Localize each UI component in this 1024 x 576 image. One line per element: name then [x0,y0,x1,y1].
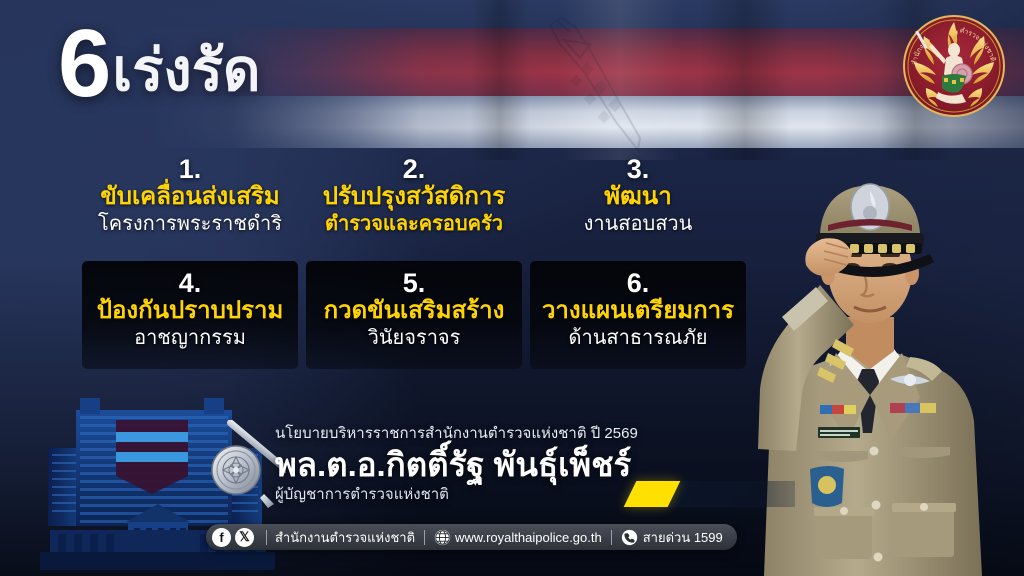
footer-divider [266,530,267,545]
policy-card[interactable]: 4. ป้องกันปราบปราม อาชญากรรม [82,261,298,369]
card-number: 1. [179,155,202,183]
card-headline: ขับเคลื่อนส่งเสริม [100,183,279,211]
title-number: 6 [58,18,108,109]
footer-divider [424,530,425,545]
card-headline: พัฒนา [604,183,671,211]
card-headline: วางแผนเตรียมการ [542,297,734,325]
policy-card[interactable]: 2. ปรับปรุงสวัสดิการ ตำรวจและครอบครัว [306,147,522,255]
card-subline: วินัยจราจร [368,326,461,350]
policy-subtitle: นโยบายบริหารราชการสำนักงานตำรวจแห่งชาติ … [275,424,695,444]
policy-card[interactable]: 6. วางแผนเตรียมการ ด้านสาธารณภัย [530,261,746,369]
ceremonial-staff-medallion [186,420,286,520]
card-number: 5. [403,269,426,297]
card-subline: อาชญากรรม [134,326,246,350]
footer-contact-bar: f 𝕏 สำนักงานตำรวจแห่งชาติ www.royalthaip… [206,524,737,550]
phone-icon [621,529,638,546]
policy-card[interactable]: 3. พัฒนา งานสอบสวน [530,147,746,255]
footer-divider [611,530,612,545]
footer-hotline: สายด่วน 1599 [643,527,723,548]
page-title: 6 เร่งรัด [58,18,261,109]
commissioner-name: พล.ต.อ.กิตติ์รัฐ พันธุ์เพ็ชร์ [275,445,695,485]
card-headline: ป้องกันปราบปราม [97,297,284,325]
infographic-canvas: 6 เร่งรัด [0,0,1024,576]
card-number: 2. [403,155,426,183]
x-twitter-icon[interactable]: 𝕏 [235,528,254,547]
title-word: เร่งรัด [112,42,260,100]
royal-thai-police-emblem-icon: สำนักงาน ตำรวจแห่งชาติ [902,14,1006,118]
footer-website[interactable]: www.royalthaipolice.go.th [455,530,602,545]
card-number: 3. [627,155,650,183]
card-headline: ปรับปรุงสวัสดิการ [323,183,505,211]
policy-card[interactable]: 5. กวดขันเสริมสร้าง วินัยจราจร [306,261,522,369]
card-number: 6. [627,269,650,297]
card-headline: กวดขันเสริมสร้าง [324,297,505,325]
policy-card-grid: 1. ขับเคลื่อนส่งเสริม โครงการพระราชดำริ … [82,147,760,369]
card-subline: ตำรวจและครอบครัว [325,212,503,236]
globe-icon [434,529,451,546]
card-number: 4. [179,269,202,297]
facebook-icon[interactable]: f [212,528,231,547]
policy-card[interactable]: 1. ขับเคลื่อนส่งเสริม โครงการพระราชดำริ [82,147,298,255]
card-subline: งานสอบสวน [584,212,693,236]
footer-org-name: สำนักงานตำรวจแห่งชาติ [275,527,415,548]
card-subline: โครงการพระราชดำริ [98,212,282,236]
card-subline: ด้านสาธารณภัย [569,326,708,350]
officer-portrait [724,121,1024,576]
